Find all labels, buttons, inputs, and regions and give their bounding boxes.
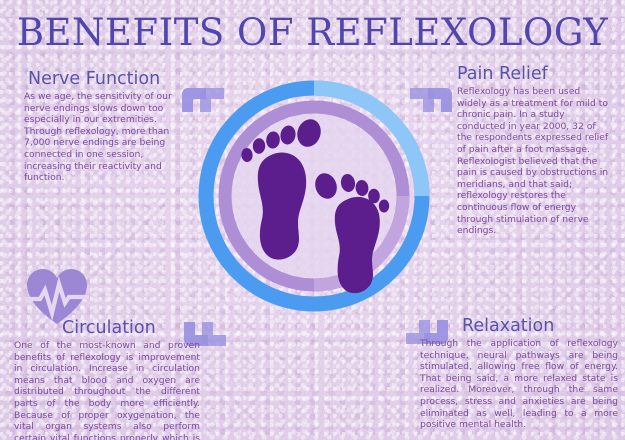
section-heading-pain-relief: Pain Relief [457,64,609,84]
section-pain-relief: Pain Relief Reflexology has been used wi… [457,64,609,237]
center-foot-circle-graphic [196,78,432,314]
section-circulation: Circulation One of the most-known and pr… [14,318,200,440]
section-heading-nerve-function: Nerve Function [28,69,176,89]
infographic-canvas: BENEFITS OF REFLEXOLOGY [0,0,625,440]
page-title: BENEFITS OF REFLEXOLOGY [0,12,625,54]
section-body-circulation: One of the most-known and proven benefit… [14,340,200,440]
section-heading-circulation: Circulation [62,318,200,338]
section-body-relaxation: Through the application of reflexology t… [420,338,618,431]
foot-circle-svg [196,78,432,314]
section-body-nerve-function: As we age, the sensitivity of our nerve … [24,91,176,184]
double-chevron-top-right-icon [404,82,458,136]
section-relaxation: Relaxation Through the application of re… [420,316,618,431]
section-heading-relaxation: Relaxation [462,316,618,336]
section-body-pain-relief: Reflexology has been used widely as a tr… [457,86,609,237]
section-nerve-function: Nerve Function As we age, the sensitivit… [24,69,176,184]
double-chevron-top-left-icon [176,82,230,136]
